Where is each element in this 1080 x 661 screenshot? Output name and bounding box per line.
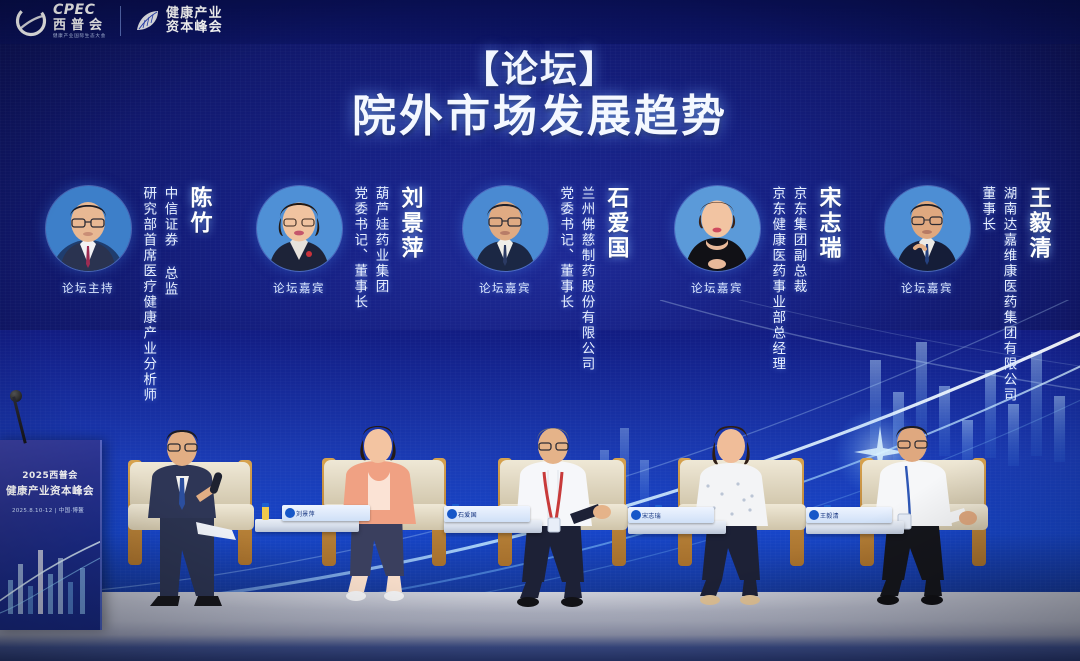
cpec-ring-icon (14, 4, 48, 38)
panelist-card: 论坛主持 陈竹 中信证券 总监 研究部首席医疗健康产业分析师 (42, 186, 214, 403)
panelist-card: 论坛嘉宾 王毅清 湖南达嘉维康医药集团有限公司 董事长 (881, 186, 1053, 403)
logo-secondary-line2: 资本峰会 (166, 21, 223, 36)
forum-title: 【论坛】 院外市场发展趋势 (0, 50, 1080, 141)
panelist-card-row: 论坛主持 陈竹 中信证券 总监 研究部首席医疗健康产业分析师 (0, 186, 1080, 436)
nameplate-text: 宋志瑞 (642, 511, 661, 520)
panelist-name: 王毅清 (1021, 186, 1053, 261)
nameplate[interactable]: 王毅清 (806, 507, 892, 523)
nameplate[interactable]: 宋志瑞 (628, 507, 714, 523)
panelist-org: 湖南达嘉维康医药集团有限公司 (999, 186, 1017, 403)
avatar (257, 186, 342, 271)
nameplate[interactable]: 石爱国 (444, 506, 530, 522)
conference-stage-photo: CPEC 西普会 健康产业国际生态大会 健康产业 资本峰会 (0, 0, 1080, 661)
avatar (46, 186, 131, 271)
panelist-position: 研究部首席医疗健康产业分析师 (139, 186, 157, 403)
nameplate-logo-icon (631, 510, 641, 520)
leaf-icon (134, 8, 160, 34)
panelist-position: 董事长 (978, 186, 996, 233)
seated-person (516, 428, 611, 607)
panelist-role: 论坛嘉宾 (479, 280, 531, 296)
panelist-card: 论坛嘉宾 石爱国 兰州佛慈制药股份有限公司 党委书记、董事长 (459, 186, 631, 372)
water-bottle (262, 503, 269, 520)
nameplate-logo-icon (809, 510, 819, 520)
nameplate-logo-icon (285, 508, 295, 518)
panelist-org: 中信证券 总监 (160, 186, 178, 297)
panelist-card: 论坛嘉宾 宋志瑞 京东集团副总裁 京东健康医药事业部总经理 (671, 186, 843, 372)
seated-panel (0, 400, 1080, 630)
nameplate[interactable]: 刘景萍 (282, 505, 370, 521)
panelist-position: 京东健康医药事业部总经理 (768, 186, 786, 372)
panelist-name: 石爱国 (599, 186, 631, 261)
avatar (885, 186, 970, 271)
logo-primary-latin: CPEC (53, 3, 107, 17)
avatar (675, 186, 760, 271)
panelist-name: 宋志瑞 (811, 186, 843, 261)
panelist-card: 论坛嘉宾 刘景萍 葫芦娃药业集团 党委书记、董事长 (253, 186, 425, 310)
forum-title-line1: 【论坛】 (0, 50, 1080, 90)
panelist-role: 论坛主持 (62, 280, 114, 296)
nameplate-text: 刘景萍 (296, 509, 315, 518)
panelist-org: 京东集团副总裁 (789, 186, 807, 295)
forum-title-line2: 院外市场发展趋势 (0, 92, 1080, 141)
panelist-role: 论坛嘉宾 (901, 280, 953, 296)
avatar (463, 186, 548, 271)
panelist-position: 党委书记、董事长 (350, 186, 368, 310)
nameplate-logo-icon (447, 509, 457, 519)
logo-secondary: 健康产业 资本峰会 (134, 7, 223, 36)
panelist-role: 论坛嘉宾 (273, 280, 325, 296)
logo-primary: CPEC 西普会 健康产业国际生态大会 (14, 3, 107, 40)
panelist-name: 陈竹 (182, 186, 214, 236)
logo-primary-chinese: 西普会 (53, 19, 107, 32)
panelist-position: 党委书记、董事长 (556, 186, 574, 310)
panelist-name: 刘景萍 (393, 186, 425, 261)
panelist-org: 兰州佛慈制药股份有限公司 (577, 186, 595, 372)
panelist-role: 论坛嘉宾 (691, 280, 743, 296)
nameplate-text: 王毅清 (820, 511, 839, 520)
nameplate-text: 石爱国 (458, 510, 477, 519)
panelist-org: 葫芦娃药业集团 (371, 186, 389, 295)
header-bar: CPEC 西普会 健康产业国际生态大会 健康产业 资本峰会 (0, 0, 1080, 44)
logo-divider (120, 6, 121, 36)
logo-primary-sub: 健康产业国际生态大会 (53, 35, 107, 40)
